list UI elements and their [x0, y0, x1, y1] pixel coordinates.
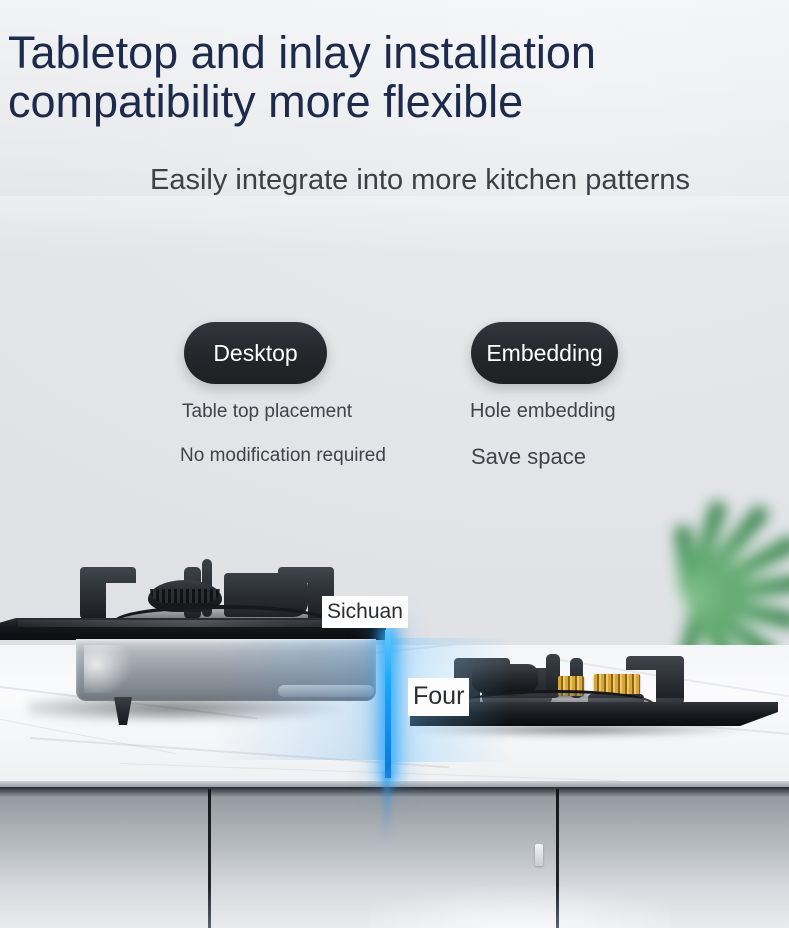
- cabinet-handle[interactable]: [535, 844, 543, 866]
- caption-desktop-line1: Table top placement: [182, 401, 352, 423]
- cabinet-seam: [556, 789, 559, 928]
- page-title: Tabletop and inlay installation compatib…: [8, 28, 708, 126]
- page-subtitle: Easily integrate into more kitchen patte…: [150, 163, 690, 197]
- glass-panel-sheen: [18, 620, 368, 627]
- caption-embedding-line2: Save space: [471, 444, 586, 470]
- caption-embedding-line1: Hole embedding: [470, 400, 616, 423]
- kitchen-cabinets: [0, 787, 789, 928]
- tabletop-stove-product: [0, 545, 388, 745]
- cabinet-top-shadow: [0, 787, 789, 797]
- overlay-label-right: Four: [408, 678, 469, 716]
- badge-desktop[interactable]: Desktop: [184, 322, 327, 384]
- divider-beam-tail: [384, 770, 390, 840]
- pan-support-left: [80, 567, 136, 619]
- caption-desktop-line2: No modification required: [180, 445, 386, 467]
- body-tray: [278, 685, 374, 697]
- badge-embedding[interactable]: Embedding: [471, 322, 618, 384]
- cabinet-floor-glow: [370, 883, 670, 928]
- cabinet-seam: [208, 789, 211, 928]
- stove-shadow: [418, 724, 768, 738]
- marble-vein: [120, 763, 620, 781]
- burner-cap-ribs: [150, 589, 220, 603]
- divider-beam: [385, 630, 391, 778]
- overlay-label-left: Sichuan: [322, 596, 408, 628]
- body-highlight: [84, 645, 144, 693]
- product-feature-banner: Tabletop and inlay installation compatib…: [0, 0, 789, 928]
